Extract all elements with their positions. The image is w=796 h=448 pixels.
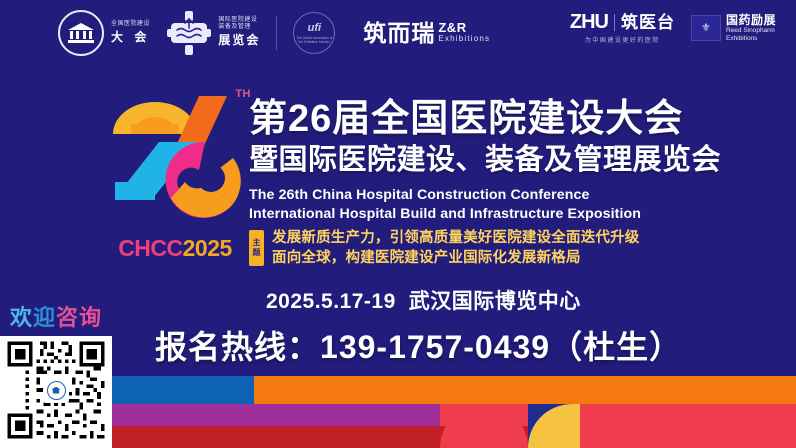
zhu-chinese-name: 筑医台 xyxy=(621,14,675,31)
reed-sinopharm-icon: ⚜ xyxy=(691,15,721,41)
zhu-divider xyxy=(614,14,615,31)
theme-badge-char-2: 题 xyxy=(253,248,261,258)
theme-line-1: 发展新质生产力，引领高质量美好医院建设全面迭代升级 xyxy=(272,228,640,248)
chcc-26-logo-graphic xyxy=(95,86,255,236)
qr-heading: 欢迎咨询 xyxy=(0,296,112,336)
logo-zr-exhibitions: 筑而瑞 Z&R Exhibitions xyxy=(363,21,490,44)
zhu-mark: ZHU xyxy=(570,12,608,32)
zr-chinese-name: 筑而瑞 xyxy=(363,22,435,45)
chcc-wordmark-year: 2025 xyxy=(183,235,232,261)
bank-building-icon xyxy=(47,381,66,400)
hotline-label: 报名热线： xyxy=(155,329,320,365)
theme-lines: 发展新质生产力，引领高质量美好医院建设全面迭代升级 面向全球，构建医院建设产业国… xyxy=(272,228,640,268)
qr-heading-char-4: 询 xyxy=(79,300,102,332)
qr-heading-char-3: 咨 xyxy=(56,300,79,332)
logo1-big-text: 大 会 xyxy=(111,30,150,46)
english-title: The 26th China Hospital Construction Con… xyxy=(249,186,641,223)
hotline-number[interactable]: 139-1757-0439 xyxy=(320,329,550,365)
zhu-tagline: 为中国建设更好的医院 xyxy=(585,35,660,44)
logo-reed-sinopharm: ⚜ 国药励展 Reed Sinopharm Exhibitions xyxy=(691,14,776,43)
snowflake-flower-icon xyxy=(166,10,212,56)
left-logo-group: 全国医院建设 大 会 xyxy=(58,10,490,56)
theme-block: 主 题 发展新质生产力，引领高质量美好医院建设全面迭代升级 面向全球，构建医院建… xyxy=(249,228,640,268)
theme-badge-char-1: 主 xyxy=(253,238,261,248)
theme-badge: 主 题 xyxy=(249,230,264,266)
logo1-small-text: 全国医院建设 xyxy=(111,21,150,28)
sponsor-logo-bar: 全国医院建设 大 会 xyxy=(0,0,796,68)
logo-international-hospital-exhibition: 国际医院建设 装备及管理 展览会 xyxy=(166,10,260,56)
qr-center-logo xyxy=(43,377,69,403)
event-date: 2025.5.17-19 xyxy=(266,290,396,313)
bank-building-icon xyxy=(58,10,104,56)
reed-en-line2: Exhibitions xyxy=(726,35,776,42)
decorative-color-bands xyxy=(0,368,796,448)
logo-zhu-yi-tai: ZHU 筑医台 为中国建设更好的医院 xyxy=(570,12,675,44)
right-logo-group: ZHU 筑医台 为中国建设更好的医院 ⚜ 国药励展 Reed Sinopharm… xyxy=(570,12,776,44)
zr-en-subtitle: Exhibitions xyxy=(438,35,490,43)
event-date-venue: 2025.5.17-19武汉国际博览中心 xyxy=(266,285,581,315)
wechat-qr-code[interactable] xyxy=(4,338,108,442)
logo-divider xyxy=(276,16,277,50)
chcc-26-logo: TH CHCC2025 xyxy=(95,86,255,266)
ufi-mark: ufi xyxy=(308,23,321,34)
band-orange xyxy=(254,376,796,404)
chcc-wordmark: CHCC2025 xyxy=(95,235,255,262)
page-subtitle: 暨国际医院建设、装备及管理展览会 xyxy=(249,146,721,175)
zr-mark: Z&R xyxy=(438,21,490,35)
event-poster: 全国医院建设 大 会 xyxy=(0,0,796,448)
reed-chinese-name: 国药励展 xyxy=(726,14,776,28)
hotline-contact: （杜生） xyxy=(550,329,682,365)
qr-contact-panel[interactable]: 欢迎咨询 xyxy=(0,296,112,448)
event-venue: 武汉国际博览中心 xyxy=(409,290,581,313)
ufi-sub: The Global Association of the Exhibition… xyxy=(294,36,334,44)
reed-en-line1: Reed Sinopharm xyxy=(726,27,776,34)
chcc-wordmark-prefix: CHCC xyxy=(118,235,182,261)
qr-heading-char-2: 迎 xyxy=(33,300,56,332)
logo-national-hospital-construction-conference: 全国医院建设 大 会 xyxy=(58,10,150,56)
logo2-small-text-2: 装备及管理 xyxy=(218,24,260,31)
english-title-line2: International Hospital Build and Infrast… xyxy=(249,205,641,224)
english-title-line1: The 26th China Hospital Construction Con… xyxy=(249,186,641,205)
qr-heading-char-1: 欢 xyxy=(10,300,33,332)
logo2-big-text: 展览会 xyxy=(218,33,260,49)
ufi-globe-icon: ufi The Global Association of the Exhibi… xyxy=(293,12,335,54)
page-title: 第26届全国医院建设大会 xyxy=(249,100,683,138)
registration-hotline[interactable]: 报名热线：139-1757-0439（杜生） xyxy=(155,322,682,368)
theme-line-2: 面向全球，构建医院建设产业国际化发展新格局 xyxy=(272,248,640,268)
